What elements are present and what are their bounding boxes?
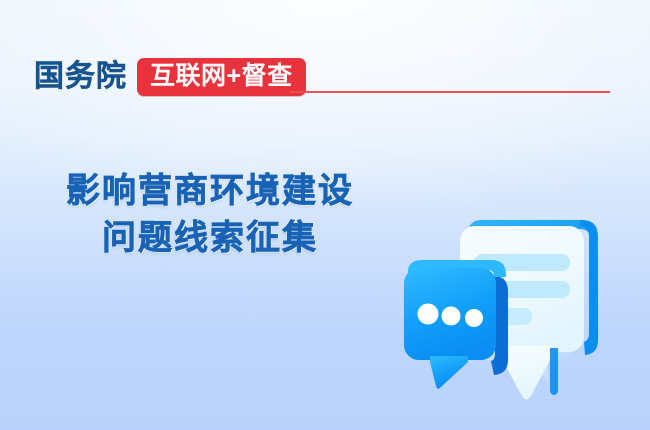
internet-supervision-badge-label: 互联网+督查 [150, 64, 293, 89]
promo-banner: 国务院 互联网+督查 影响营商环境建设 问题线索征集 [0, 0, 650, 430]
gov-council-label: 国务院 [34, 62, 127, 92]
internet-supervision-badge: 互联网+督查 [137, 58, 306, 96]
page-title-line-1: 影响营商环境建设 [0, 168, 420, 215]
banner-header: 国务院 互联网+督查 [34, 56, 306, 98]
chat-bubbles-svg [398, 196, 638, 420]
page-title-line-2: 问题线索征集 [0, 215, 420, 262]
page-title: 影响营商环境建设 问题线索征集 [0, 168, 420, 262]
chat-bubbles-illustration [398, 196, 638, 420]
header-divider-rule [290, 91, 610, 93]
blue-chat-bubble [404, 260, 508, 389]
